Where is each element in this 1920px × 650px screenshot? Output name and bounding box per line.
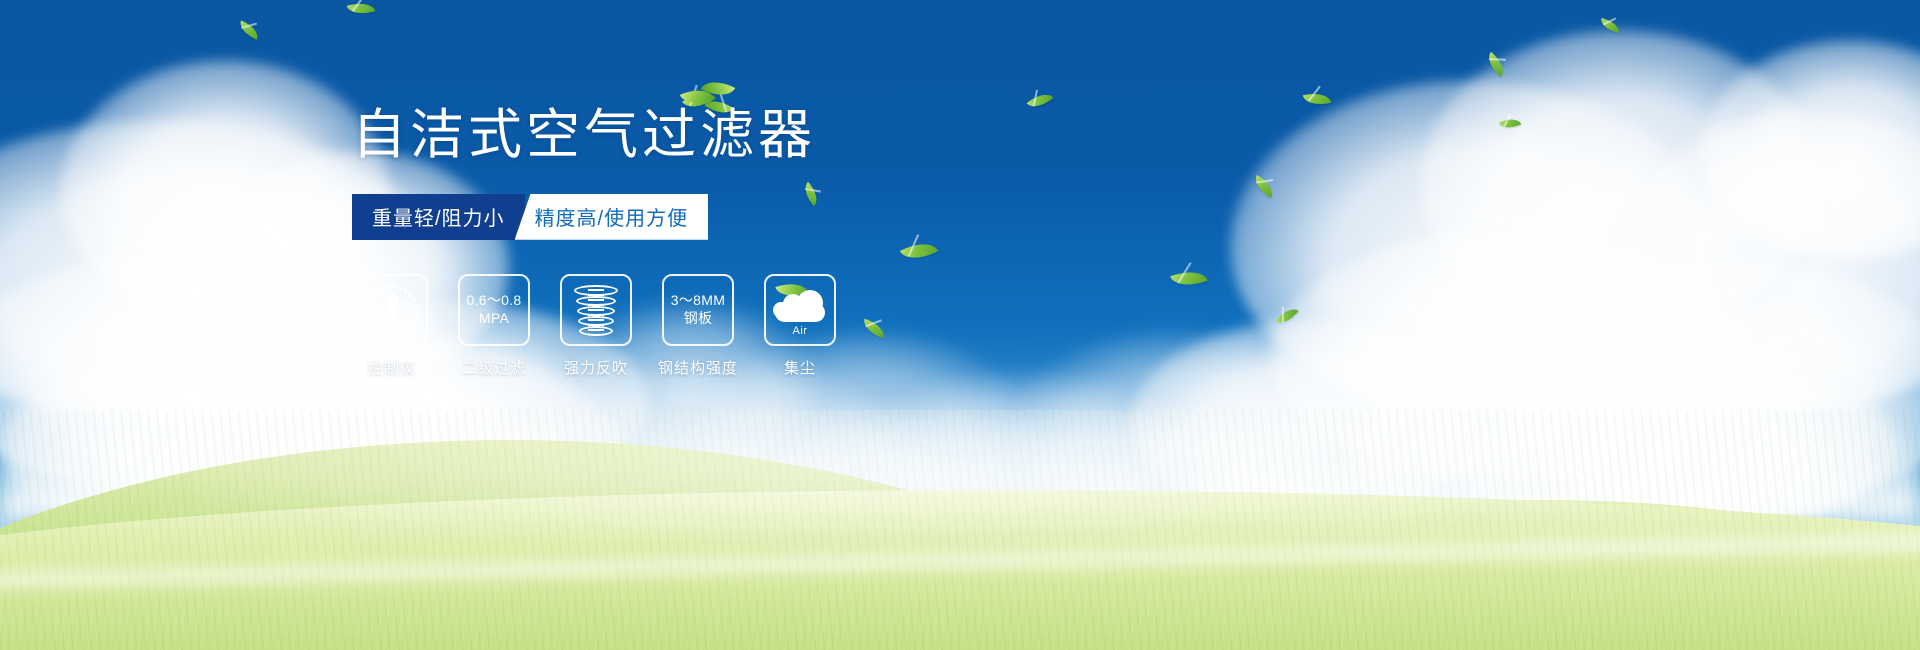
air-cloud-icon: Air xyxy=(771,284,829,336)
tab-label: 精度高/使用方便 xyxy=(535,202,689,231)
gauge-tick-dot xyxy=(372,294,375,297)
gauge-tick-dot xyxy=(399,287,402,290)
gauge-tick-dot xyxy=(379,330,382,333)
steel-thickness: 3～8MM xyxy=(671,292,725,310)
grass-field xyxy=(0,410,1920,650)
feature-caption: 控制仪 xyxy=(368,357,416,378)
pressure-unit: MPA xyxy=(466,310,521,328)
gauge-tick-dot xyxy=(376,290,379,293)
feature-caption: 二级过滤 xyxy=(462,357,526,378)
gauge-tick-dot xyxy=(393,285,396,288)
cloud-shape xyxy=(1230,80,1710,410)
feature-icon-box xyxy=(560,274,632,346)
gauge-tick-dot xyxy=(366,311,369,314)
gauge-tick-dot xyxy=(409,293,412,296)
gauge-tick-dot xyxy=(368,316,371,319)
gauge-tick-dot xyxy=(370,322,373,325)
leaf-icon xyxy=(1275,304,1298,329)
cloud-shape xyxy=(1420,30,1820,330)
banner-content: 自洁式空气过滤器 重量轻/阻力小 精度高/使用方便 NO O xyxy=(352,104,1052,378)
air-label: Air xyxy=(771,325,829,337)
leaf-icon xyxy=(1250,175,1277,198)
cloud-shape xyxy=(1620,110,1920,410)
gauge-tick-dot xyxy=(369,299,372,302)
leaf-icon xyxy=(1499,114,1522,132)
cartridge-ring xyxy=(579,326,613,336)
leaf-icon xyxy=(1599,18,1621,33)
gauge-tick-dot xyxy=(413,316,416,319)
cartridge-ring xyxy=(576,296,616,306)
gauge-tick-dot xyxy=(414,310,417,313)
gauge-tick-dot xyxy=(404,289,407,292)
hero-banner: 自洁式空气过滤器 重量轻/阻力小 精度高/使用方便 NO O xyxy=(0,0,1920,650)
gauge-label-off: OFF xyxy=(403,329,416,335)
tab-label: 重量轻/阻力小 xyxy=(372,202,505,231)
gauge-tick-dot xyxy=(407,326,410,329)
gauge-tick-dot xyxy=(412,298,415,301)
gauge-tick-dot xyxy=(387,285,390,288)
gauge-tick-dot xyxy=(381,287,384,290)
gauge-tick-dot xyxy=(384,332,387,335)
steel-material: 钢板 xyxy=(671,310,725,328)
leaf-icon xyxy=(1170,265,1208,293)
feature-caption: 强力反吹 xyxy=(564,357,628,378)
leaf-icon xyxy=(347,0,376,18)
feature-item-steel-strength[interactable]: 3～8MM 钢板 钢结构强度 xyxy=(658,274,738,378)
cloud-base xyxy=(775,303,825,322)
gauge-dial-icon: NO OFF xyxy=(362,281,422,339)
grass-highlight xyxy=(192,410,1728,550)
feature-list: NO OFF 控制仪 0.6～0.8 MPA 二级过滤 xyxy=(352,274,1052,378)
filter-cartridge-icon xyxy=(570,283,622,337)
gauge-tick-dot xyxy=(414,304,417,307)
feature-icon-box: NO OFF xyxy=(356,274,428,346)
cloud-shape xyxy=(60,60,390,320)
pressure-text-icon: 0.6～0.8 MPA xyxy=(466,292,521,327)
leaf-icon xyxy=(237,20,262,39)
tagline-tabs: 重量轻/阻力小 精度高/使用方便 xyxy=(352,194,1052,240)
cartridge-ring xyxy=(577,306,615,316)
tab-weight-resistance[interactable]: 重量轻/阻力小 xyxy=(352,194,525,240)
feature-item-strong-backflush[interactable]: 强力反吹 xyxy=(556,274,636,378)
feature-icon-box: Air xyxy=(764,274,836,346)
page-title: 自洁式空气过滤器 xyxy=(352,104,1052,168)
pressure-range: 0.6～0.8 xyxy=(466,292,521,310)
gauge-tick-dot xyxy=(374,327,377,330)
gauge-tick-dot xyxy=(367,305,370,308)
tab-precision-convenience[interactable]: 精度高/使用方便 xyxy=(515,194,709,240)
feature-caption: 集尘 xyxy=(784,357,816,378)
cloud-shape xyxy=(1700,40,1920,260)
feature-item-control-instrument[interactable]: NO OFF 控制仪 xyxy=(352,274,432,378)
gauge-needle xyxy=(388,293,397,327)
cartridge-ring xyxy=(578,316,614,326)
leaf-icon xyxy=(1303,89,1332,109)
feature-item-two-stage-filter[interactable]: 0.6～0.8 MPA 二级过滤 xyxy=(454,274,534,378)
feature-caption: 钢结构强度 xyxy=(658,357,738,378)
leaf-icon xyxy=(682,78,734,112)
feature-icon-box: 3～8MM 钢板 xyxy=(662,274,734,346)
feature-item-dust-collection[interactable]: Air 集尘 xyxy=(760,274,840,378)
leaf-icon xyxy=(1483,52,1510,77)
feature-icon-box: 0.6～0.8 MPA xyxy=(458,274,530,346)
steel-plate-text-icon: 3～8MM 钢板 xyxy=(671,292,725,327)
gauge-tick-dot xyxy=(411,321,414,324)
page-title-text: 自洁式空气过滤器 xyxy=(352,105,816,165)
cartridge-ring xyxy=(574,285,618,296)
